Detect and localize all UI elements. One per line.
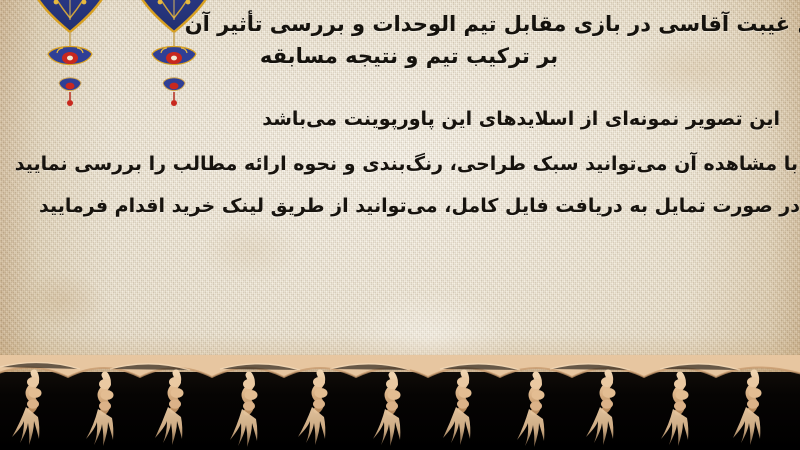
slide-canvas: یل غیبت آقاسی در بازی مقابل تیم الوحدات … bbox=[0, 0, 800, 450]
body-line-2: با مشاهده آن می‌توانید سبک طراحی، رنگ‌بن… bbox=[0, 149, 800, 179]
body-line-1: این تصویر نمونه‌ای از اسلایدهای این پاور… bbox=[0, 104, 800, 134]
knotted-tassel-fringe bbox=[0, 355, 800, 450]
title-line-1: یل غیبت آقاسی در بازی مقابل تیم الوحدات … bbox=[2, 8, 800, 40]
slide-body: این تصویر نمونه‌ای از اسلایدهای این پاور… bbox=[0, 104, 800, 221]
slide-title: یل غیبت آقاسی در بازی مقابل تیم الوحدات … bbox=[2, 8, 798, 72]
slide-text-area: یل غیبت آقاسی در بازی مقابل تیم الوحدات … bbox=[0, 0, 800, 380]
tassel-group bbox=[12, 373, 762, 447]
title-line-2: بر ترکیب تیم و نتیجه مسابقه bbox=[2, 40, 798, 72]
body-line-3: در صورت تمایل به دریافت فایل کامل، می‌تو… bbox=[0, 191, 800, 221]
